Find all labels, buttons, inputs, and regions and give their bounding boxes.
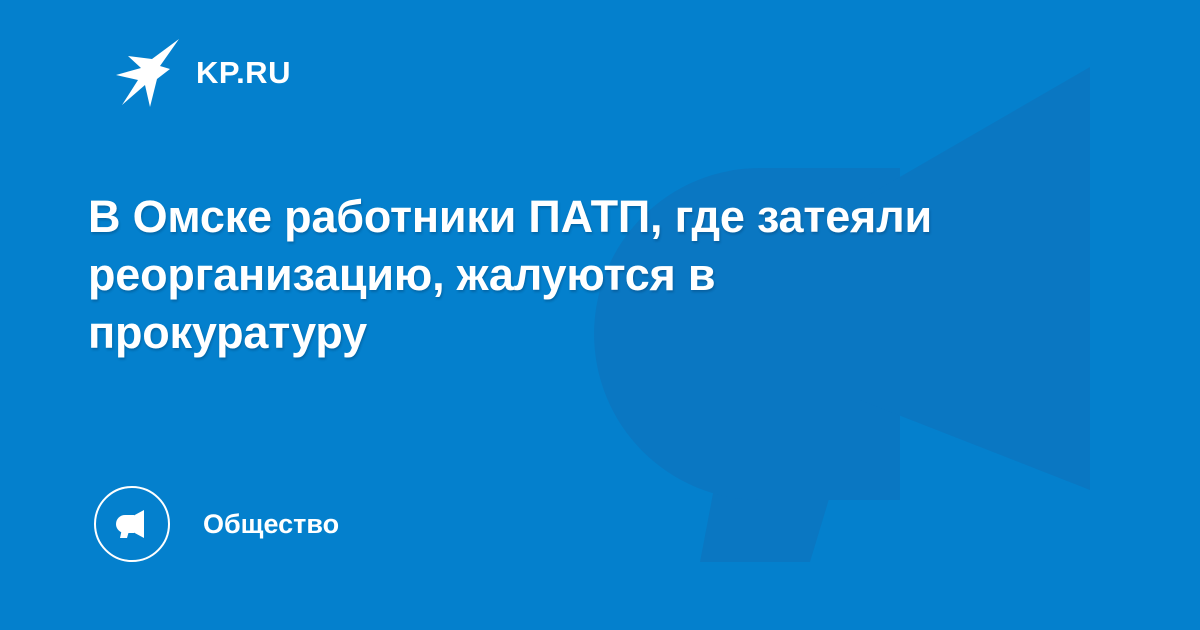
megaphone-icon: [94, 486, 170, 562]
article-share-card: KP.RU В Омске работники ПАТП, где затеял…: [0, 0, 1200, 630]
brand-logo[interactable]: KP.RU: [108, 33, 291, 111]
page-title: В Омске работники ПАТП, где затеяли реор…: [88, 188, 988, 362]
category-badge[interactable]: Общество: [94, 484, 339, 564]
category-label: Общество: [203, 511, 339, 538]
swallow-bird-icon: [108, 33, 184, 111]
brand-name: KP.RU: [196, 57, 291, 88]
